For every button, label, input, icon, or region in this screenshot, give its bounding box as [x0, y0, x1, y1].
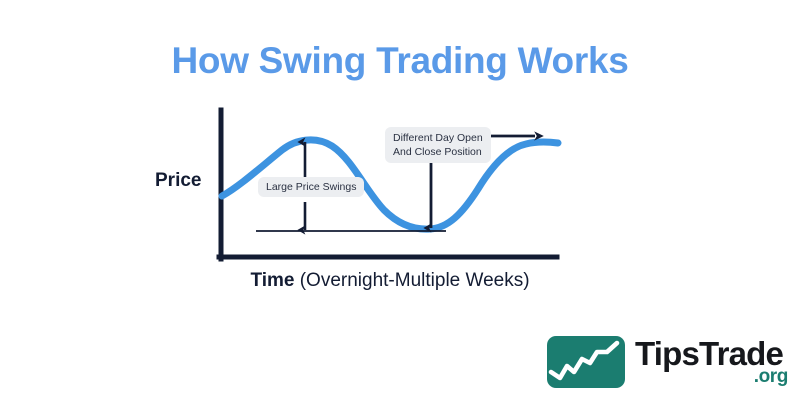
y-axis-label: Price	[155, 170, 201, 192]
annotation-large-price-swings: Large Price Swings	[258, 177, 364, 197]
logo-wordmark: TipsTrade .org	[635, 333, 790, 391]
swing-trading-infographic: How Swing Trading Works	[0, 0, 800, 400]
x-axis-label-rest: (Overnight-Multiple Weeks)	[300, 270, 530, 291]
upward-trend-chart-icon	[547, 336, 625, 388]
annotation-different-day-open-close: Different Day Open And Close Position	[385, 127, 491, 163]
logo-tld: .org	[754, 366, 788, 388]
tipstrade-logo[interactable]: TipsTrade .org	[547, 333, 787, 393]
logo-mark	[547, 336, 625, 388]
x-axis-label: Time (Overnight-Multiple Weeks)	[220, 270, 560, 292]
x-axis-label-bold: Time	[250, 270, 294, 291]
